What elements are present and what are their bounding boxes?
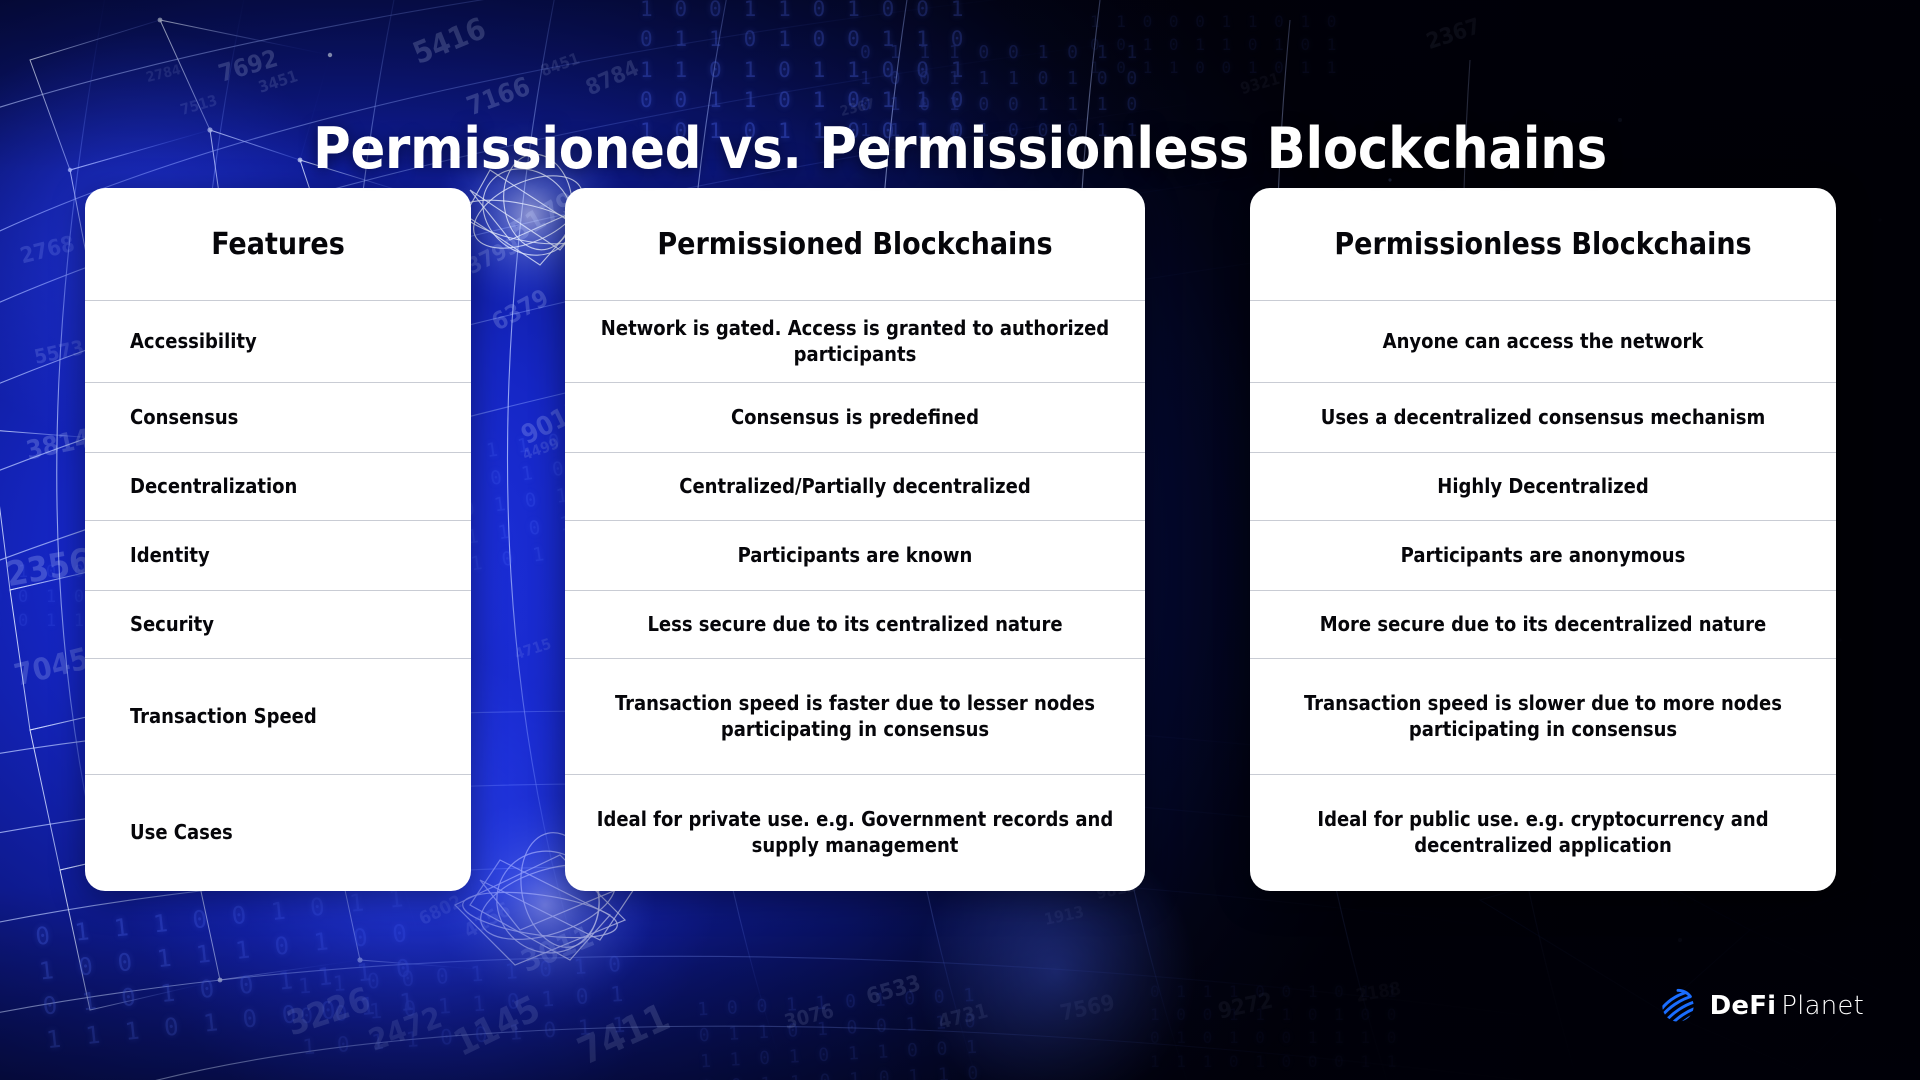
table-row: Network is gated. Access is granted to a… — [565, 300, 1145, 382]
defi-planet-logo: DeFiPlanet — [1659, 987, 1864, 1025]
permissionless-column-card: Permissionless Blockchains Anyone can ac… — [1250, 188, 1836, 891]
table-row: Security — [85, 590, 471, 658]
table-row: Uses a decentralized consensus mechanism — [1250, 382, 1836, 452]
table-row: Highly Decentralized — [1250, 452, 1836, 520]
permissionless-column-header: Permissionless Blockchains — [1250, 188, 1836, 300]
features-column-header: Features — [85, 188, 471, 300]
striped-globe-icon — [1659, 987, 1697, 1025]
page-title: Permissioned vs. Permissionless Blockcha… — [0, 116, 1920, 182]
table-row: Accessibility — [85, 300, 471, 382]
table-row: Consensus is predefined — [565, 382, 1145, 452]
table-row: Ideal for private use. e.g. Government r… — [565, 774, 1145, 891]
table-row: Transaction Speed — [85, 658, 471, 774]
infographic-canvas: 1 0 0 1 1 0 1 0 0 1 0 1 1 0 1 0 0 1 1 0 … — [0, 0, 1920, 1080]
table-row: Participants are known — [565, 520, 1145, 590]
table-row: Participants are anonymous — [1250, 520, 1836, 590]
table-row: Transaction speed is faster due to lesse… — [565, 658, 1145, 774]
table-row: Less secure due to its centralized natur… — [565, 590, 1145, 658]
table-row: Transaction speed is slower due to more … — [1250, 658, 1836, 774]
table-row: Centralized/Partially decentralized — [565, 452, 1145, 520]
logo-name-light: Planet — [1781, 991, 1864, 1021]
table-row: Anyone can access the network — [1250, 300, 1836, 382]
logo-name-bold: DeFi — [1710, 991, 1777, 1021]
table-row: More secure due to its decentralized nat… — [1250, 590, 1836, 658]
table-row: Use Cases — [85, 774, 471, 891]
permissioned-column-header: Permissioned Blockchains — [565, 188, 1145, 300]
permissioned-column-card: Permissioned Blockchains Network is gate… — [565, 188, 1145, 891]
logo-wordmark: DeFiPlanet — [1710, 991, 1864, 1021]
table-row: Consensus — [85, 382, 471, 452]
features-column-card: Features Accessibility Consensus Decentr… — [85, 188, 471, 891]
table-row: Ideal for public use. e.g. cryptocurrenc… — [1250, 774, 1836, 891]
table-row: Decentralization — [85, 452, 471, 520]
table-row: Identity — [85, 520, 471, 590]
